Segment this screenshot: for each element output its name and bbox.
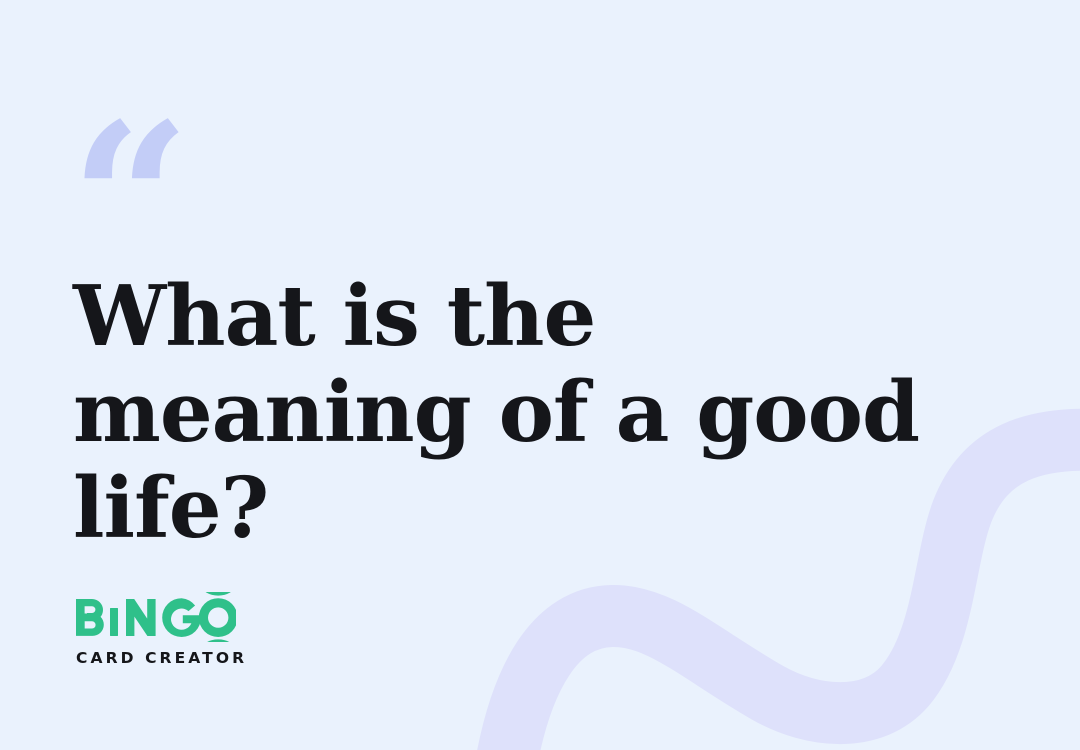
logo-letter-i	[110, 608, 118, 636]
logo-arc-top-icon	[202, 592, 234, 596]
quote-mark-icon: “	[70, 96, 210, 226]
bingo-wordmark	[74, 592, 234, 642]
logo-letter-g	[162, 598, 201, 637]
brand-logo: CARD CREATOR	[74, 592, 247, 667]
logo-tagline: CARD CREATOR	[76, 651, 247, 667]
logo-letter-b-bowl	[76, 614, 104, 636]
quote-text: What is the meaning of a good life?	[73, 268, 1003, 556]
logo-arc-bottom-icon	[202, 639, 234, 642]
quote-card: “ What is the meaning of a good life?	[0, 0, 1080, 750]
logo-letter-n	[126, 599, 156, 636]
logo-letter-o	[199, 598, 236, 637]
